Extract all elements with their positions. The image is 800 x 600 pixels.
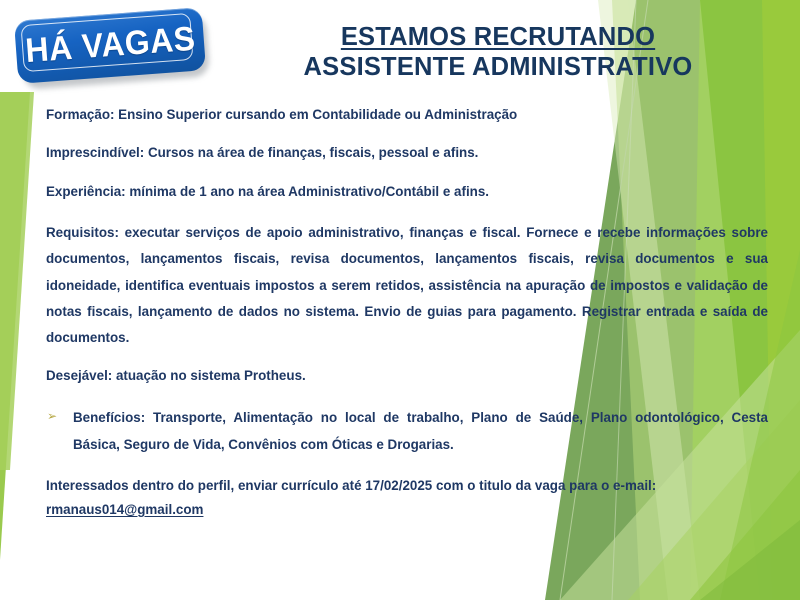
title-line-role: ASSISTENTE ADMINISTRATIVO	[218, 52, 778, 82]
list-item-beneficios: ➢ Benefícios: Transporte, Alimentação no…	[46, 405, 768, 457]
fan-triangle-5	[700, 520, 800, 600]
arrow-bullet-icon: ➢	[46, 405, 73, 428]
requirement-formacao: Formação: Ensino Superior cursando em Co…	[46, 106, 768, 123]
requirement-imprescindivel: Imprescindível: Cursos na área de finanç…	[46, 144, 768, 161]
beneficios-text: Benefícios: Transporte, Alimentação no l…	[73, 405, 768, 457]
ha-vagas-badge: HÁ VAGAS	[14, 12, 210, 84]
job-posting-slide: HÁ VAGAS ESTAMOS RECRUTANDO ASSISTENTE A…	[0, 0, 800, 600]
badge-label-text: HÁ VAGAS	[24, 20, 196, 71]
contact-email-link[interactable]: rmanaus014@gmail.com	[46, 502, 203, 517]
requirement-desejavel: Desejável: atuação no sistema Protheus.	[46, 367, 768, 384]
title-line-recruiting: ESTAMOS RECRUTANDO	[218, 22, 778, 52]
contact-instructions: Interessados dentro do perfil, enviar cu…	[46, 477, 768, 495]
left-green-wedge	[0, 92, 30, 560]
job-details: Formação: Ensino Superior cursando em Co…	[46, 106, 768, 519]
left-green-wedge-soft	[0, 92, 34, 470]
page-title: ESTAMOS RECRUTANDO ASSISTENTE ADMINISTRA…	[218, 22, 778, 82]
requirement-experiencia: Experiência: mínima de 1 ano na área Adm…	[46, 183, 768, 200]
requirement-requisitos: Requisitos: executar serviços de apoio a…	[46, 220, 768, 351]
